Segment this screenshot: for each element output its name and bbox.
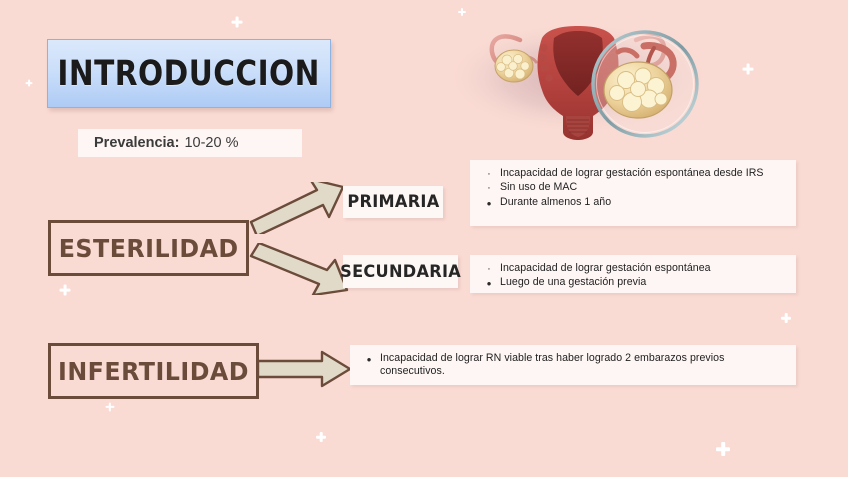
list-item: • Durante almenos 1 año xyxy=(478,196,786,213)
bullet-icon: · xyxy=(478,181,500,195)
subterm-box-primaria: PRIMARIA xyxy=(343,186,443,218)
list-item: · Incapacidad de lograr gestación espont… xyxy=(478,167,786,181)
subterm-label-secundaria: SECUNDARIA xyxy=(340,262,461,282)
content-box-secundaria: · Incapacidad de lograr gestación espont… xyxy=(470,255,796,293)
prevalencia-label: Prevalencia: xyxy=(94,135,179,151)
term-label-esterilidad: ESTERILIDAD xyxy=(59,234,239,263)
arrow-to-primaria xyxy=(247,182,347,234)
bullet-icon: · xyxy=(478,262,500,276)
arrow-to-infertilidad-content xyxy=(256,349,354,389)
list-item-text: Incapacidad de lograr gestación espontán… xyxy=(500,167,764,180)
list-item-text: Incapacidad de lograr RN viable tras hab… xyxy=(380,352,786,379)
uterus-ovaries-polycystic-illustration xyxy=(432,4,724,142)
list-item: · Incapacidad de lograr gestación espont… xyxy=(478,262,786,276)
sparkle-icon xyxy=(743,64,754,75)
prevalencia-value: 10-20 % xyxy=(184,135,238,151)
list-item-text: Sin uso de MAC xyxy=(500,181,577,194)
arrow-to-secundaria xyxy=(247,243,352,295)
sparkle-icon xyxy=(232,17,243,28)
sparkle-icon xyxy=(716,442,730,456)
list-item: • Incapacidad de lograr RN viable tras h… xyxy=(358,352,786,379)
content-box-infertilidad: • Incapacidad de lograr RN viable tras h… xyxy=(350,345,796,385)
bullet-icon: • xyxy=(478,276,500,293)
list-item-text: Durante almenos 1 año xyxy=(500,196,611,209)
list-item: • Luego de una gestación previa xyxy=(478,276,786,293)
term-box-infertilidad: INFERTILIDAD xyxy=(48,343,259,399)
term-label-infertilidad: INFERTILIDAD xyxy=(58,357,249,386)
slide-title-box: INTRODUCCION xyxy=(47,39,331,108)
content-box-primaria: · Incapacidad de lograr gestación espont… xyxy=(470,160,796,226)
list-item: · Sin uso de MAC xyxy=(478,181,786,195)
sparkle-icon xyxy=(26,80,33,87)
slide-canvas: INTRODUCCION Prevalencia: 10-20 % ESTERI… xyxy=(0,0,848,477)
subterm-box-secundaria: SECUNDARIA xyxy=(343,255,458,288)
sparkle-icon xyxy=(60,285,71,296)
subterm-label-primaria: PRIMARIA xyxy=(347,192,439,212)
bullet-icon: · xyxy=(478,167,500,181)
term-box-esterilidad: ESTERILIDAD xyxy=(48,220,249,276)
prevalencia-callout: Prevalencia: 10-20 % xyxy=(78,129,302,157)
sparkle-icon xyxy=(316,432,326,442)
sparkle-icon xyxy=(781,313,791,323)
list-item-text: Incapacidad de lograr gestación espontán… xyxy=(500,262,711,275)
bullet-icon: • xyxy=(358,352,380,369)
sparkle-icon xyxy=(106,403,115,412)
page-title: INTRODUCCION xyxy=(58,54,321,94)
list-item-text: Luego de una gestación previa xyxy=(500,276,646,289)
bullet-icon: • xyxy=(478,196,500,213)
